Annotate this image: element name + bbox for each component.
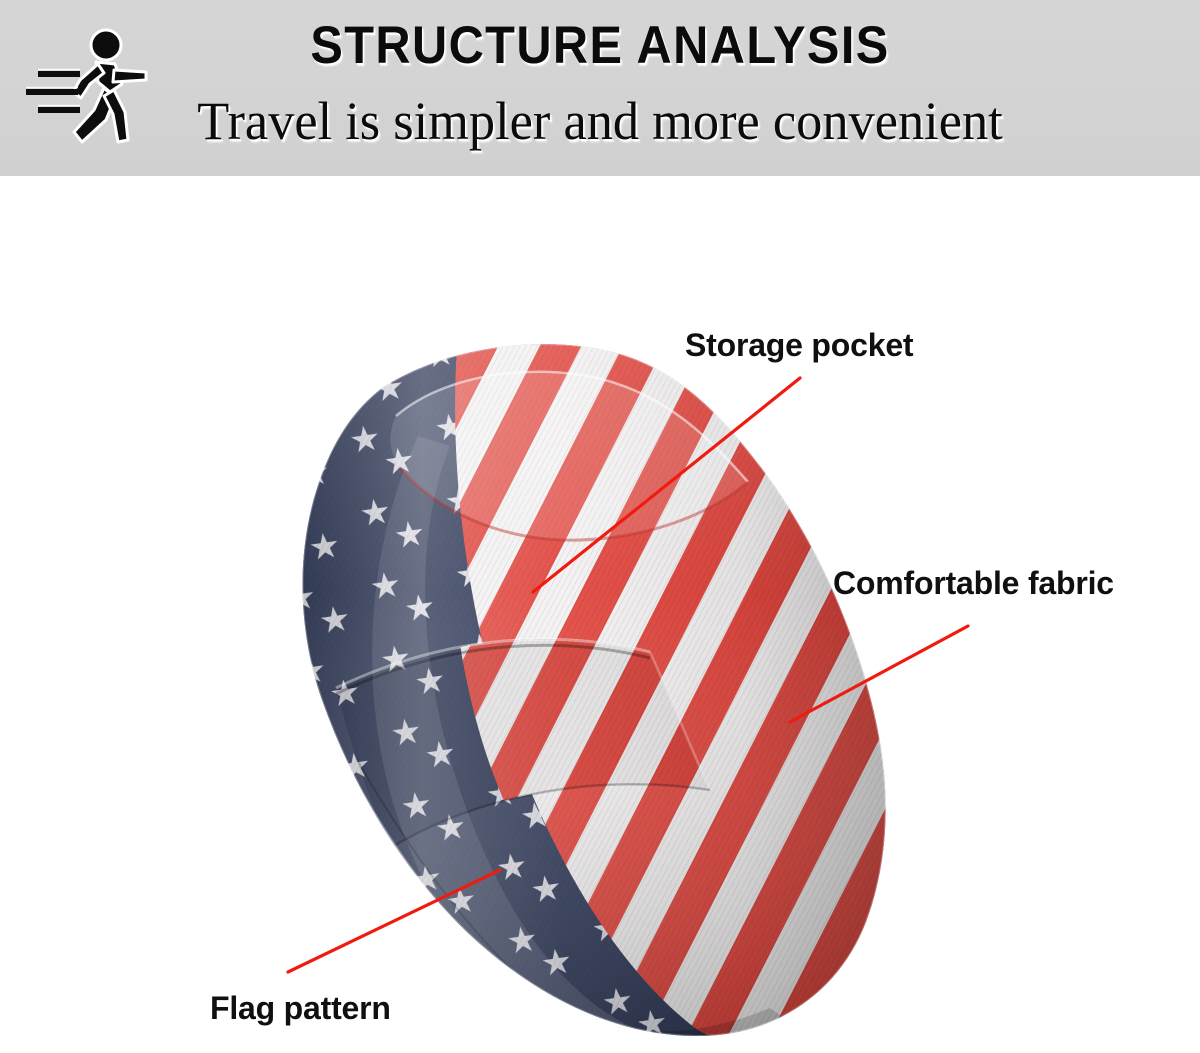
callout-label-comfortable-fabric: Comfortable fabric <box>833 565 1114 602</box>
product-image-area <box>0 176 1200 1053</box>
callout-label-storage-pocket: Storage pocket <box>685 327 913 364</box>
armband-product-photo <box>150 296 950 1036</box>
callout-label-flag-pattern: Flag pattern <box>210 990 391 1027</box>
page-subtitle: Travel is simpler and more convenient <box>18 92 1182 151</box>
header-banner: STRUCTURE ANALYSIS Travel is simpler and… <box>0 0 1200 176</box>
page-title: STRUCTURE ANALYSIS <box>48 18 1152 74</box>
